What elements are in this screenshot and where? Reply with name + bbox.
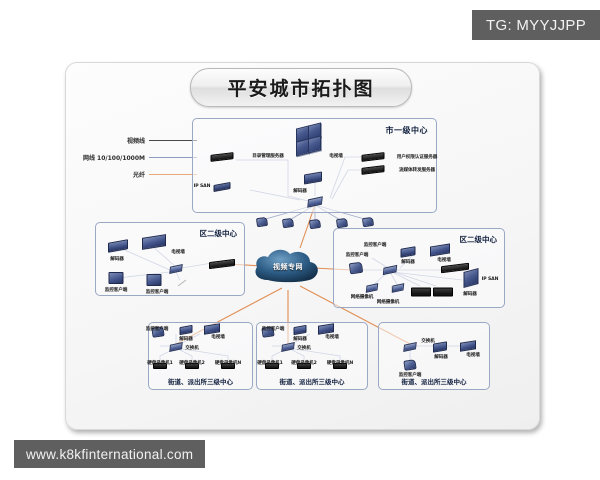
device-dvr-district-right-2	[433, 288, 453, 297]
device-camera-district-right-2	[392, 285, 404, 292]
device-switch-district-right	[383, 267, 397, 274]
device-tv-wall-city	[296, 127, 326, 157]
device-decoder-street-1	[180, 326, 193, 334]
device-edge-router-district-left	[209, 261, 235, 268]
device-tv-wall-street-3	[460, 342, 476, 351]
label-switch-street-1: 交换机	[185, 345, 198, 351]
label-ip-san-district-right: IP SAN	[482, 277, 499, 282]
panel-street-center-1-title: 街道、派出所三级中心	[149, 376, 252, 386]
device-client-district-left-1	[109, 272, 124, 284]
label-tv-wall-street-1: 电视墙	[211, 334, 224, 340]
label-dvr-street-1-1: 硬盘录像机1	[147, 360, 173, 366]
device-core-switch-city	[308, 198, 323, 206]
label-decoder-city: 解码器	[293, 188, 306, 194]
legend-label-network: 网线 10/100/1000M	[83, 153, 145, 162]
device-auth-server	[362, 154, 385, 161]
label-decoder-street-3: 解码器	[434, 354, 447, 360]
device-switch-district-left	[170, 266, 183, 273]
panel-street-center-2-title: 街道、派出所三级中心	[257, 376, 367, 386]
label-dvr-street-2-2: 硬盘录像机2	[291, 360, 317, 366]
device-client-district-left-2	[147, 274, 162, 286]
legend-swatch-fiber	[149, 174, 197, 175]
device-stream-server	[362, 167, 385, 174]
label-dvr-street-1-2: 硬盘录像机2	[179, 360, 205, 366]
label-dvr-street-2-n: 硬盘录像机N	[327, 360, 353, 366]
device-decoder-street-2	[294, 326, 307, 334]
label-tv-wall-city: 电视墙	[329, 153, 342, 159]
label-camera-district-right-1: 网络摄像机	[351, 294, 373, 300]
device-decoder-district-left	[108, 241, 128, 251]
panel-city-center-title: 市一级中心	[386, 125, 429, 136]
legend-item-fiber: 光纤	[72, 166, 197, 183]
label-client-street-2: 监控客户端	[262, 326, 284, 332]
device-client-street-3	[404, 360, 416, 370]
label-tv-wall-district-right: 电视墙	[437, 257, 450, 263]
label-stream-server: 流媒体转发服务器	[399, 167, 435, 173]
label-auth-server: 用户权限认证服务器	[397, 154, 437, 160]
legend-label-video: 视频线	[127, 136, 145, 145]
label-dvr-street-2-1: 硬盘录像机1	[257, 360, 283, 366]
device-camera-city-3	[310, 220, 321, 229]
label-ip-san-city: IP SAN	[194, 184, 211, 189]
legend-label-fiber: 光纤	[133, 170, 145, 179]
device-tv-wall-street-2	[318, 325, 334, 334]
device-decoder-street-3	[433, 343, 447, 352]
device-decoder-district-right	[401, 248, 416, 257]
label-client-street-1: 监控客户端	[146, 326, 168, 332]
website-text: www.k8kfinternational.com	[26, 447, 193, 462]
legend-item-network: 网线 10/100/1000M	[72, 149, 197, 166]
panel-district-left-title: 区二级中心	[200, 228, 238, 239]
legend: 视频线 网线 10/100/1000M 光纤	[72, 132, 197, 183]
legend-swatch-video	[149, 140, 197, 141]
label-client-district-left-1: 监控客户端	[105, 287, 127, 293]
telegram-tag-watermark: TG: MYYJJPP	[472, 10, 600, 40]
device-switch-street-3	[404, 344, 417, 351]
device-switch-street-2	[282, 344, 295, 351]
website-watermark: www.k8kfinternational.com	[14, 440, 205, 468]
panel-street-center-3-title: 街道、派出所三级中心	[379, 376, 489, 386]
device-switch-street-1	[170, 344, 183, 351]
label-dvr-district-right: 解码器	[463, 291, 476, 297]
label-camera-district-right-2: 网络摄像机	[377, 299, 399, 305]
device-client-district-right-2	[350, 263, 363, 274]
diagram-title: 平安城市拓扑图	[190, 68, 412, 107]
device-tv-wall-district-left	[142, 236, 166, 248]
label-decoder-district-right: 解码器	[401, 259, 414, 265]
device-directory-server	[211, 154, 234, 161]
label-tv-wall-street-3: 电视墙	[466, 352, 479, 358]
label-dvr-street-1-n: 硬盘录像机N	[215, 360, 241, 366]
device-camera-district-right-1	[366, 285, 378, 292]
device-decoder-city	[304, 173, 322, 183]
diagram-title-text: 平安城市拓扑图	[227, 74, 374, 101]
device-camera-city-5	[363, 218, 374, 227]
label-switch-street-2: 交换机	[297, 345, 310, 351]
device-ip-san-city	[214, 184, 231, 191]
device-dvr-district-right-1	[411, 288, 431, 297]
device-ip-san-district-right	[464, 270, 479, 286]
label-client-street-3: 监控客户端	[399, 372, 421, 378]
label-client-district-left-2: 监控客户端	[146, 289, 168, 295]
device-tv-wall-street-1	[204, 325, 220, 334]
cloud-label: 视频专网	[248, 262, 328, 272]
legend-swatch-network	[149, 157, 197, 158]
panel-district-right-title: 区二级中心	[460, 234, 498, 245]
label-decoder-street-2: 解码器	[293, 336, 306, 342]
legend-item-video: 视频线	[72, 132, 197, 149]
label-decoder-district-left: 解码器	[110, 256, 123, 262]
screenshot-stage: 平安城市拓扑图 视频线 网线 10/100/1000M 光纤 市一级中心 目录管…	[0, 0, 600, 480]
label-directory-server: 目录管理服务器	[252, 153, 283, 159]
label-tv-wall-district-left: 电视墙	[171, 249, 184, 255]
label-client-district-right-1: 监控客户端	[364, 242, 386, 248]
device-camera-city-2	[283, 219, 294, 228]
telegram-tag-text: TG: MYYJJPP	[486, 17, 586, 34]
device-camera-city-1	[257, 218, 268, 227]
device-tv-wall-district-right	[430, 245, 450, 255]
device-camera-city-4	[337, 219, 348, 228]
label-client-district-right-2: 监控客户端	[346, 252, 368, 258]
label-tv-wall-street-2: 电视墙	[325, 334, 338, 340]
video-private-network-cloud: 视频专网	[248, 246, 328, 290]
